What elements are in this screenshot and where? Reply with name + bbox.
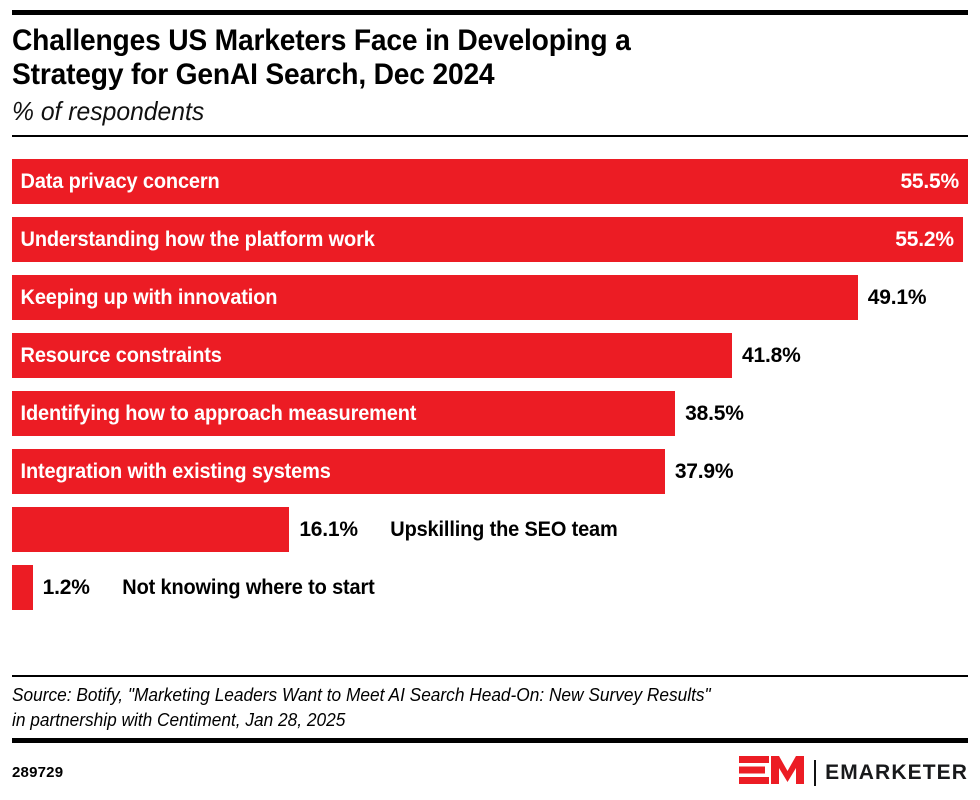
bar-row: Integration with existing systems37.9% (12, 449, 968, 494)
bar-4[interactable]: Resource constraints (12, 333, 732, 378)
bar-row: Understanding how the platform work55.2% (12, 217, 968, 262)
bar-label: Not knowing where to start (90, 576, 375, 600)
chart-sheet: Challenges US Marketers Face in Developi… (0, 0, 980, 800)
bar-value: 1.2% (33, 576, 90, 600)
bar-outside-labels: 38.5% (675, 391, 744, 436)
footer-bottom-rule (12, 738, 968, 743)
page-title-line-1: Challenges US Marketers Face in Developi… (12, 24, 911, 58)
source-note: Source: Botify, "Marketing Leaders Want … (12, 677, 930, 738)
bar-value: 16.1% (289, 518, 358, 542)
bar-label: Upskilling the SEO team (358, 518, 618, 542)
emarketer-logo[interactable]: EMARKETER (739, 755, 968, 790)
chart-footer: Source: Botify, "Marketing Leaders Want … (12, 675, 968, 790)
footer-bottom-row: 289729 EMARKETER (12, 755, 968, 790)
bar-2[interactable]: Understanding how the platform work55.2% (12, 217, 963, 262)
bar-label: Resource constraints (12, 344, 222, 368)
bar-8[interactable] (12, 565, 33, 610)
source-note-line-1: Source: Botify, "Marketing Leaders Want … (12, 683, 930, 708)
header-top-rule (12, 10, 968, 15)
header-bottom-rule-wrap (12, 135, 968, 137)
bar-outside-labels: 37.9% (665, 449, 734, 494)
header-bottom-rule (12, 135, 968, 137)
bar-label: Identifying how to approach measurement (12, 402, 416, 426)
chart-id: 289729 (12, 764, 63, 781)
chart-header: Challenges US Marketers Face in Developi… (12, 0, 968, 137)
bar-outside-labels: 49.1% (858, 275, 927, 320)
em-logo-icon (739, 755, 805, 790)
bar-1[interactable]: Data privacy concern55.5% (12, 159, 968, 204)
source-note-line-2: in partnership with Centiment, Jan 28, 2… (12, 708, 930, 733)
bar-row: 1.2%Not knowing where to start (12, 565, 968, 610)
page-title-line-2: Strategy for GenAI Search, Dec 2024 (12, 58, 911, 92)
bar-6[interactable]: Integration with existing systems (12, 449, 665, 494)
bar-5[interactable]: Identifying how to approach measurement (12, 391, 675, 436)
bar-value: 55.5% (900, 159, 959, 204)
bar-label: Keeping up with innovation (12, 286, 277, 310)
bar-7[interactable] (12, 507, 289, 552)
bar-outside-labels: 1.2%Not knowing where to start (33, 565, 390, 610)
page-subtitle: % of respondents (12, 96, 920, 126)
bar-label: Integration with existing systems (12, 460, 331, 484)
bar-value: 38.5% (675, 402, 744, 426)
bar-row: Identifying how to approach measurement3… (12, 391, 968, 436)
bar-row: Data privacy concern55.5% (12, 159, 968, 204)
logo-wordmark: EMARKETER (825, 761, 968, 785)
bar-outside-labels: 16.1%Upskilling the SEO team (289, 507, 631, 552)
bar-label: Understanding how the platform work (12, 228, 375, 252)
bar-value: 37.9% (665, 460, 734, 484)
page-title: Challenges US Marketers Face in Developi… (12, 24, 911, 92)
bar-row: 16.1%Upskilling the SEO team (12, 507, 968, 552)
bar-3[interactable]: Keeping up with innovation (12, 275, 858, 320)
bar-row: Keeping up with innovation49.1% (12, 275, 968, 320)
bar-label: Data privacy concern (12, 170, 220, 194)
bar-value: 41.8% (732, 344, 801, 368)
bar-outside-labels: 41.8% (732, 333, 801, 378)
bar-value: 55.2% (895, 217, 954, 262)
bar-row: Resource constraints41.8% (12, 333, 968, 378)
bar-value: 49.1% (858, 286, 927, 310)
bar-chart: Data privacy concern55.5%Understanding h… (12, 159, 968, 617)
logo-divider (814, 760, 816, 786)
